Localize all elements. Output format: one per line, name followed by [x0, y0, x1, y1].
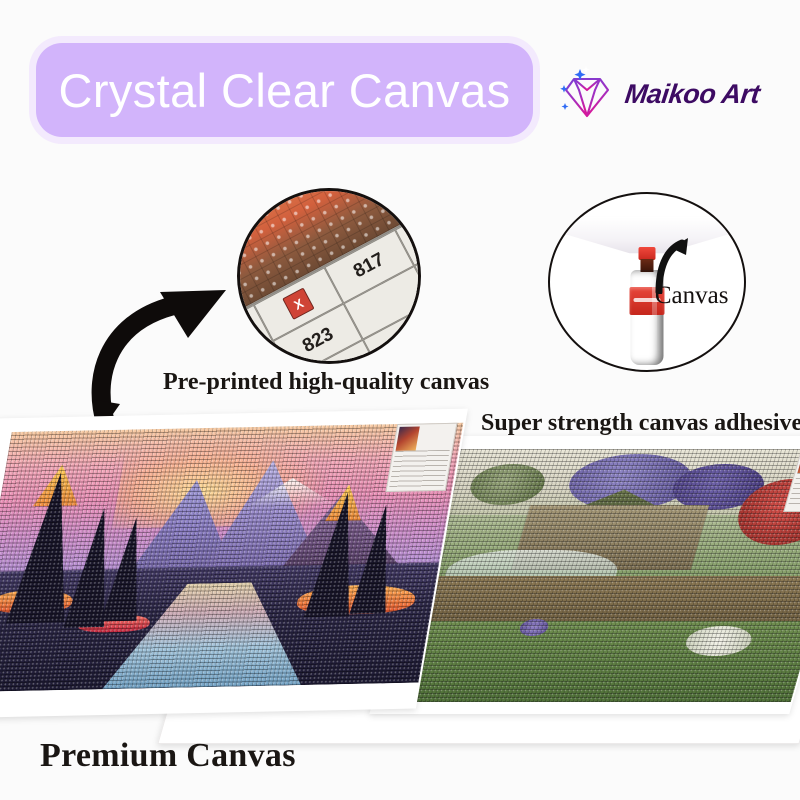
canvas-macro-view: U X 817 C 823 — [237, 188, 421, 364]
chart-lines — [389, 450, 450, 488]
diamond-icon — [556, 63, 618, 125]
sunset-mountain-canvas-board — [0, 409, 468, 719]
legend-code: 825 — [318, 360, 356, 364]
symbol-c-icon: C — [237, 362, 263, 364]
color-chart-strip — [385, 423, 457, 492]
curved-arrow-up-right-icon — [76, 276, 240, 426]
sun-glow — [112, 436, 335, 529]
caption-canvas-adhesive: Super strength canvas adhesive — [481, 410, 800, 437]
brand-logo: Maikoo Art — [556, 58, 786, 130]
legend-code: 823 — [299, 323, 337, 357]
bottom-caption: Premium Canvas — [40, 737, 296, 775]
symbol-x-icon: X — [282, 288, 314, 320]
caption-pre-printed-canvas: Pre-printed high-quality canvas — [163, 369, 489, 396]
canvas-callout-label: Canvas — [655, 282, 729, 310]
title-banner: Crystal Clear Canvas — [36, 43, 533, 137]
magnifier-pre-printed-canvas: U X 817 C 823 — [237, 188, 421, 364]
header: Crystal Clear Canvas — [0, 0, 800, 160]
legend-code: 817 — [350, 249, 388, 283]
brand-name: Maikoo Art — [623, 79, 761, 110]
page-title: Crystal Clear Canvas — [58, 63, 510, 118]
chart-thumbnail — [396, 427, 420, 451]
magnifier-canvas-adhesive: Canvas — [548, 192, 746, 372]
infographic-root: Crystal Clear Canvas — [0, 0, 800, 800]
